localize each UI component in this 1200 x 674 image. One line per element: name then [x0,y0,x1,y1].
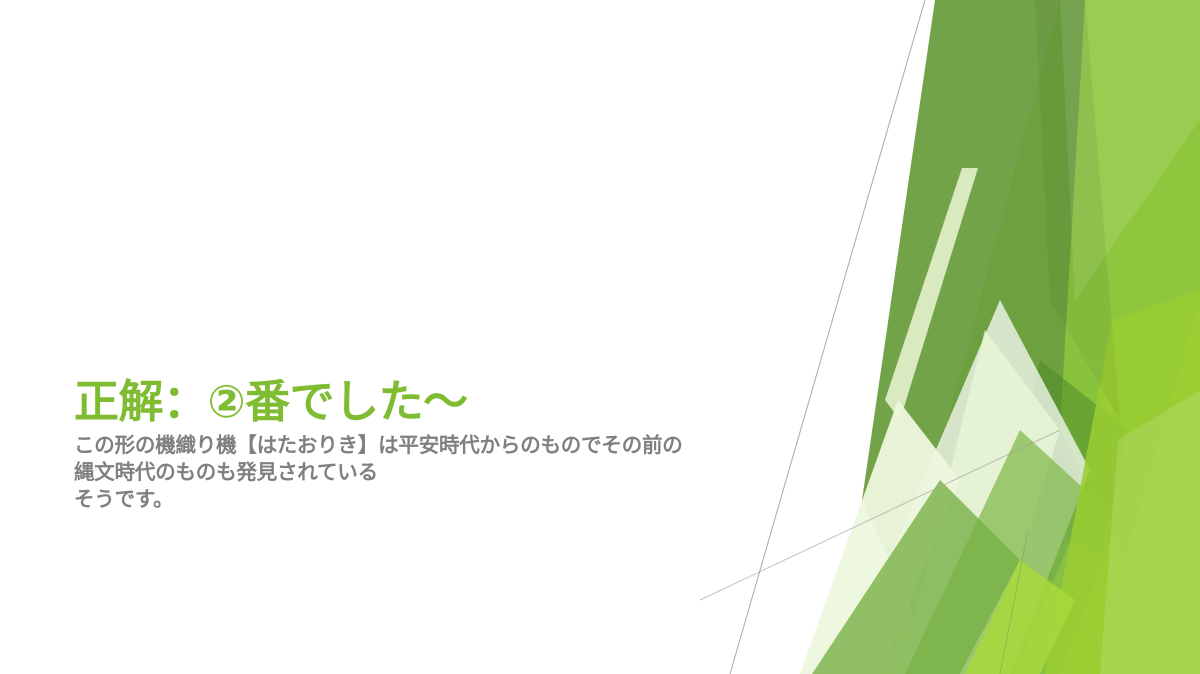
subtitle-line-1: この形の機織り機【はたおりき】は平安時代からのものでその前の [74,432,774,459]
slide-subtitle: この形の機織り機【はたおりき】は平安時代からのものでその前の 縄文時代のものも発… [74,432,774,514]
facet-shape-light-lower [905,430,1118,674]
facet-shape-pale-band [800,400,960,674]
facet-hairline-primary [730,0,925,674]
facet-shape-lime-bottom-shard [965,560,1075,674]
subtitle-line-2: 縄文時代のものも発見されている [74,459,774,486]
facet-shape-pale-sheet [840,300,1090,674]
facet-shape-bright-base [880,0,1200,674]
facet-shape-pale-sliver-upper [885,168,978,420]
facet-polygon-group [700,0,1200,674]
facet-corner-graphic [0,0,1200,674]
facet-shape-lime-overlay [1045,290,1200,674]
facet-shape-green-bottom-left [812,480,1020,674]
page-title: 正解：②番でした〜 [74,378,774,426]
slide-text-block: 正解：②番でした〜 この形の機織り機【はたおりき】は平安時代からのものでその前の… [74,378,774,513]
presentation-slide: 正解：②番でした〜 この形の機織り機【はたおりき】は平安時代からのものでその前の… [0,0,1200,674]
facet-shape-light-overlay-mid [1060,0,1200,300]
facet-shape-pale-shard-a [900,330,1060,674]
facet-shape-white-veil [1100,390,1200,674]
facet-hairline-tertiary [1000,530,1028,674]
facet-shape-dark-wedge [862,0,1120,674]
facet-shape-mid-wedge [1060,0,1200,560]
facet-shape-dark-shading [1035,0,1120,420]
subtitle-line-3: そうです。 [74,486,774,513]
facet-shape-deep-shard [1012,360,1128,560]
